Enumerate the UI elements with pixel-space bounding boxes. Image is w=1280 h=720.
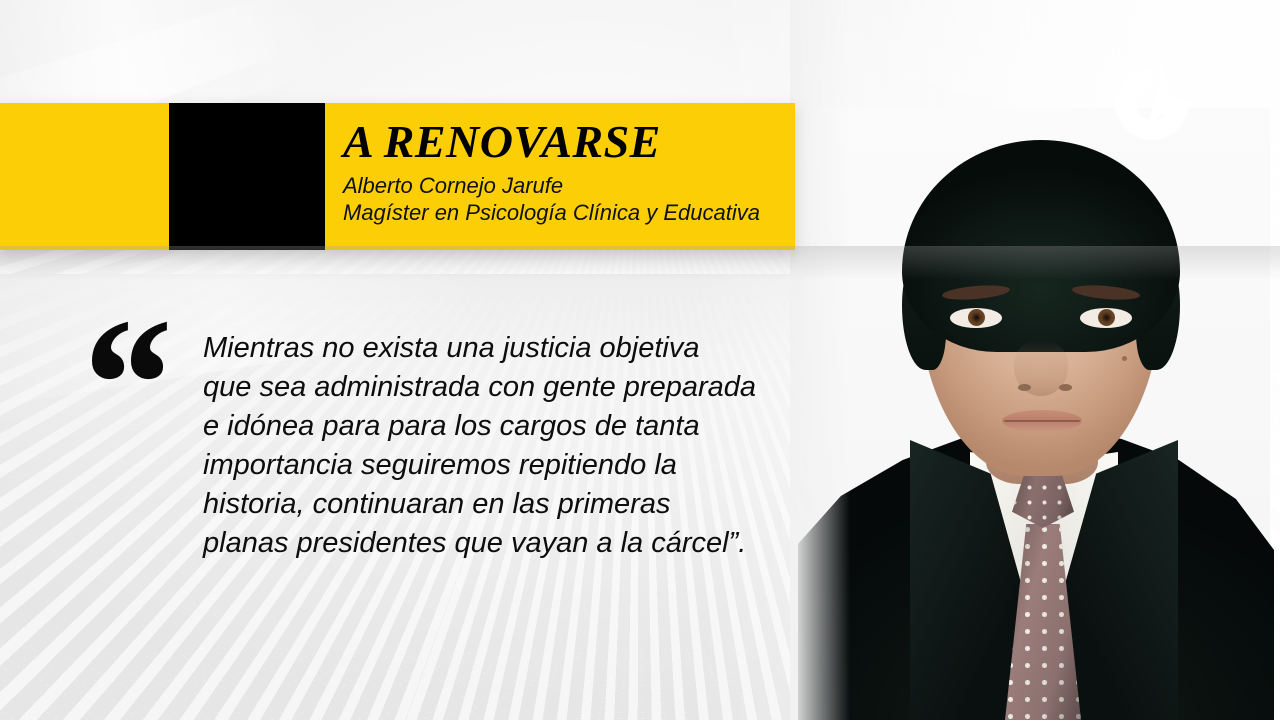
quote-card: A RENOVARSE Alberto Cornejo Jarufe Magís… <box>0 0 1280 720</box>
portrait-eye-right <box>1080 308 1132 328</box>
brand-logo-icon <box>1100 52 1204 156</box>
banner-black-block <box>169 103 325 250</box>
portrait-mole <box>1122 356 1127 361</box>
banner-title: A RENOVARSE <box>343 103 795 165</box>
portrait-photo <box>790 0 1280 720</box>
portrait-eye-left <box>950 308 1002 328</box>
quote-text: Mientras no exista una justicia objetiva… <box>203 329 803 563</box>
header-banner: A RENOVARSE Alberto Cornejo Jarufe Magís… <box>0 103 795 250</box>
banner-text-group: A RENOVARSE Alberto Cornejo Jarufe Magís… <box>343 103 795 250</box>
portrait-nostril-right <box>1059 384 1072 391</box>
quote-open-mark-icon: “ <box>74 290 163 480</box>
portrait-iris-left <box>968 309 985 326</box>
portrait-nostril-left <box>1018 384 1031 391</box>
portrait-iris-right <box>1098 309 1115 326</box>
banner-author-role: Magíster en Psicología Clínica y Educati… <box>343 199 795 226</box>
portrait-mouth-line <box>1004 420 1080 422</box>
banner-author-name: Alberto Cornejo Jarufe <box>343 165 795 199</box>
